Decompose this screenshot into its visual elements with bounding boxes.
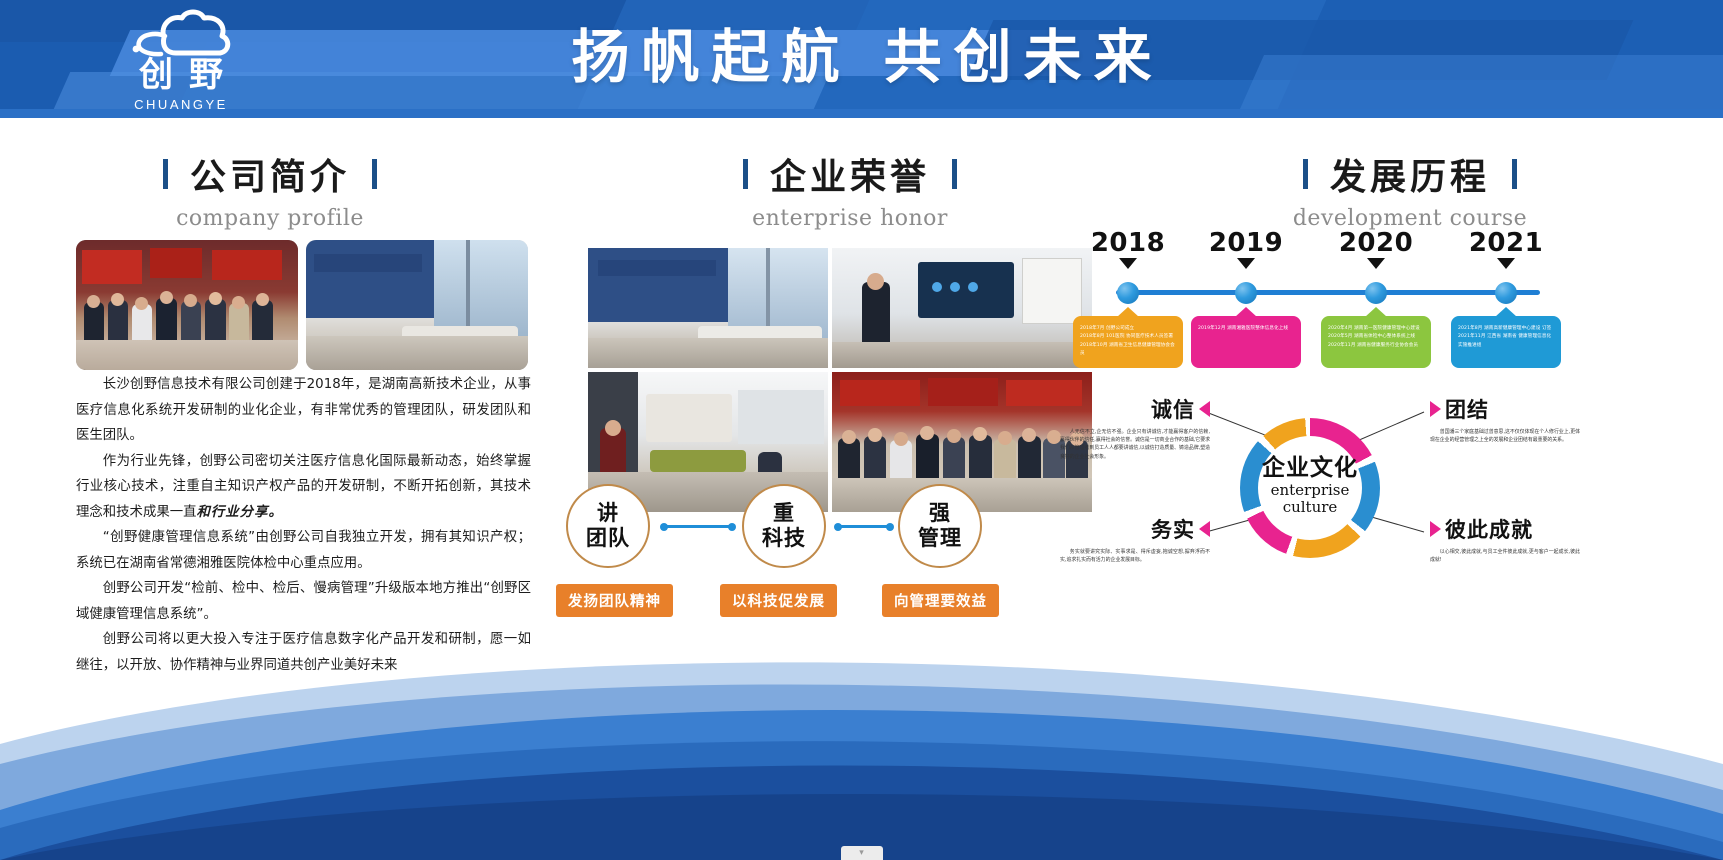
culture-item-body: 务实就要讲究实际、实事求是、得斥虚妄,抱诚空想,摒弃浮而不实,追求扎实而有活力的… [1060, 548, 1210, 564]
timeline-node[interactable] [1365, 282, 1387, 304]
heading-cn: 发展历程 [1330, 148, 1490, 200]
timeline-card-2018: 2018年7月 创野公司成立 2018年8月 101医院 协同医疗技术人员签署 … [1073, 316, 1183, 368]
timeline-card-2019: 2019年12月 湖南湘雅医院整体信息化上线 [1191, 316, 1301, 368]
header-banner: 创野 CHUANGYE 扬帆起航 共创未来 [0, 0, 1723, 118]
timeline-card-line: 2021年8月 湖南高新健康管理中心建设 订签 [1458, 325, 1554, 333]
heading-bar-right [952, 159, 957, 189]
heading-en: enterprise honor [700, 206, 1000, 231]
timeline-year: 2018 [1091, 228, 1165, 258]
triangle-right-icon [1430, 521, 1441, 537]
enterprise-culture-diagram: 企业文化 enterprise culture 诚信 人无信不立,企无信不强。企… [1058, 392, 1558, 592]
donut-center [1258, 436, 1362, 540]
timeline-axis [1116, 290, 1540, 295]
heading-bar-left [743, 159, 748, 189]
culture-item-mutual-achievement: 彼此成就 以心相交,彼此成就,与员工全件彼此成就,更与客户一起成长,彼此成就! [1430, 514, 1580, 564]
flow-node-label: 讲团队 [586, 501, 630, 551]
culture-item-body: 曾国潘三个家庭基础过曾意思,这不仅仅体现在个人修行业上,更体现在企业的经营管理之… [1430, 428, 1580, 444]
timeline-year: 2020 [1339, 228, 1413, 258]
culture-item-body: 人无信不立,企无信不强。企业只有讲诚信,才能赢得客户的信赖,赢得伙伴的信任,赢得… [1060, 428, 1210, 461]
timeline-node[interactable] [1235, 282, 1257, 304]
section-heading-enterprise-honor: 企业荣誉 enterprise honor [700, 148, 1000, 231]
banner-underline [0, 109, 1723, 118]
photo-office-reception [588, 248, 828, 368]
heading-cn: 公司简介 [190, 148, 350, 200]
photo-office-lobby [306, 240, 528, 370]
section-heading-company-profile: 公司简介 company profile [120, 148, 420, 231]
heading-bar-left [163, 159, 168, 189]
timeline-card-line: 2018年8月 101医院 协同医疗技术人员签署 [1080, 333, 1176, 341]
culture-item-body: 以心相交,彼此成就,与员工全件彼此成就,更与客户一起成长,彼此成就! [1430, 548, 1580, 564]
heading-en: company profile [120, 206, 420, 231]
development-timeline: 2018 2018年7月 创野公司成立 2018年8月 101医院 协同医疗技术… [1058, 228, 1578, 388]
timeline-card-line: 2020年5月 湖南省体检中心整体系统上线 [1328, 333, 1424, 341]
photo-group-team [76, 240, 298, 370]
flow-node-label: 强管理 [918, 501, 962, 551]
timeline-card-line: 2019年12月 湖南湘雅医院整体信息化上线 [1198, 325, 1294, 333]
timeline-card-line: 2020年11月 湖南省健康服务行业协会会员 [1328, 342, 1424, 350]
triangle-left-icon [1199, 521, 1210, 537]
photo-meeting-presentation [832, 248, 1092, 368]
flow-connector [838, 525, 890, 528]
heading-cn: 企业荣誉 [770, 148, 930, 200]
culture-item-title: 诚信 [1151, 394, 1195, 424]
flow-node-management[interactable]: 强管理 [898, 484, 982, 568]
bottom-wave-decoration [0, 614, 1723, 860]
timeline-card-line: 2020年4月 湖南第一医院健康管理中心建设 [1328, 325, 1424, 333]
timeline-arrow-icon [1497, 258, 1515, 269]
scroll-indicator[interactable]: ▾ [841, 846, 883, 860]
timeline-card-line: 2018年7月 创野公司成立 [1080, 325, 1176, 333]
profile-paragraph: 长沙创野信息技术有限公司创建于2018年，是湖南高新技术企业，从事医疗信息化系统… [76, 372, 531, 449]
poster-canvas: 创野 CHUANGYE 扬帆起航 共创未来 公司简介 company profi… [0, 0, 1723, 860]
heading-bar-right [372, 159, 377, 189]
culture-item-title: 务实 [1151, 514, 1195, 544]
flow-node-technology[interactable]: 重科技 [742, 484, 826, 568]
profile-paragraph-with-script: 作为行业先锋，创野公司密切关注医疗信息化国际最新动态，始终掌握行业核心技术，注重… [76, 449, 531, 526]
banner-title: 扬帆起航 共创未来 [0, 20, 1723, 94]
timeline-card-line: 2021年11月 江西省 湖南省 健康管理信息化实施推进组 [1458, 333, 1554, 350]
flow-tag-team[interactable]: 发扬团队精神 [556, 584, 673, 617]
triangle-right-icon [1430, 401, 1441, 417]
handwritten-fragment: 和行业分享。 [197, 504, 283, 520]
timeline-node[interactable] [1117, 282, 1139, 304]
flow-tag-management[interactable]: 向管理要效益 [882, 584, 999, 617]
timeline-year: 2021 [1469, 228, 1543, 258]
profile-paragraph: “创野健康管理信息系统”由创野公司自我独立开发，拥有其知识产权；系统已在湖南省常… [76, 525, 531, 576]
flow-connector [664, 525, 732, 528]
heading-bar-left [1303, 159, 1308, 189]
heading-bar-right [1512, 159, 1517, 189]
timeline-year: 2019 [1209, 228, 1283, 258]
triangle-left-icon [1199, 401, 1210, 417]
timeline-card-line: 2018年10月 湖南省卫生信息健康管理协会会员 [1080, 342, 1176, 359]
flow-node-label: 重科技 [762, 501, 806, 551]
timeline-card-2021: 2021年8月 湖南高新健康管理中心建设 订签 2021年11月 江西省 湖南省… [1451, 316, 1561, 368]
timeline-arrow-icon [1237, 258, 1255, 269]
culture-item-unity: 团结 曾国潘三个家庭基础过曾意思,这不仅仅体现在个人修行业上,更体现在企业的经营… [1430, 394, 1580, 444]
timeline-card-2020: 2020年4月 湖南第一医院健康管理中心建设 2020年5月 湖南省体检中心整体… [1321, 316, 1431, 368]
timeline-arrow-icon [1367, 258, 1385, 269]
timeline-arrow-icon [1119, 258, 1137, 269]
flow-node-team[interactable]: 讲团队 [566, 484, 650, 568]
culture-item-title: 彼此成就 [1445, 514, 1533, 544]
timeline-node[interactable] [1495, 282, 1517, 304]
culture-item-title: 团结 [1445, 394, 1489, 424]
section-heading-development-course: 发展历程 development course [1260, 148, 1560, 231]
core-values-flow: 讲团队 重科技 强管理 发扬团队精神 以科技促发展 向管理要效益 [560, 484, 1030, 604]
culture-item-integrity: 诚信 人无信不立,企无信不强。企业只有讲诚信,才能赢得客户的信赖,赢得伙伴的信任… [1060, 394, 1210, 461]
flow-tag-technology[interactable]: 以科技促发展 [720, 584, 837, 617]
culture-donut-chart [1240, 418, 1380, 558]
culture-item-pragmatism: 务实 务实就要讲究实际、实事求是、得斥虚妄,抱诚空想,摒弃浮而不实,追求扎实而有… [1060, 514, 1210, 564]
